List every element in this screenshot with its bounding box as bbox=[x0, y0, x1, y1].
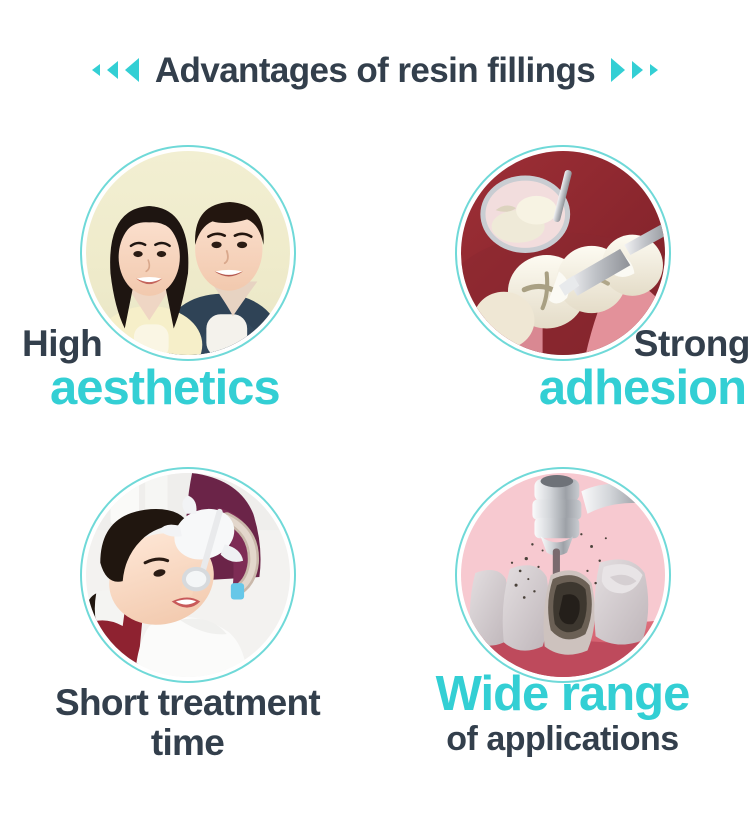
right-triangle-small-icon bbox=[650, 64, 658, 76]
dental-chair-patient-photo bbox=[86, 473, 290, 677]
photo-ring-high-aesthetics bbox=[80, 145, 296, 361]
advantage-card-wide-range-of-applications[interactable]: Wide range of applications bbox=[375, 452, 750, 774]
dental-drill-illustration bbox=[461, 473, 665, 677]
photo-ring-strong-adhesion bbox=[455, 145, 671, 361]
right-triangle-medium-icon bbox=[632, 61, 643, 79]
advantages-grid: High aesthetics bbox=[0, 130, 750, 774]
left-triangle-medium-icon bbox=[107, 61, 118, 79]
right-arrow-decoration bbox=[611, 58, 658, 82]
smiling-couple-illustration bbox=[86, 151, 290, 355]
left-arrow-decoration bbox=[92, 58, 139, 82]
drill-removing-decay-illustration bbox=[461, 473, 665, 677]
left-triangle-large-icon bbox=[125, 58, 139, 82]
photo-ring-wide-range bbox=[455, 467, 671, 683]
patient-in-dental-chair-illustration bbox=[86, 473, 290, 677]
right-triangle-large-icon bbox=[611, 58, 625, 82]
advantage-card-strong-adhesion[interactable]: Strong adhesion bbox=[375, 130, 750, 452]
caption-line-2: time bbox=[0, 724, 375, 761]
caption-short-treatment-time: Short treatment time bbox=[0, 684, 375, 761]
advantage-card-short-treatment-time[interactable]: Short treatment time bbox=[0, 452, 375, 774]
dental-filling-illustration bbox=[461, 151, 665, 355]
caption-line-2: aesthetics bbox=[50, 364, 397, 413]
advantages-row-1: High aesthetics bbox=[0, 130, 750, 452]
advantages-row-2: Short treatment time bbox=[0, 452, 750, 774]
photo-ring-short-treatment-time bbox=[80, 467, 296, 683]
left-triangle-small-icon bbox=[92, 64, 100, 76]
caption-line-2: adhesion bbox=[375, 364, 746, 413]
page-title: Advantages of resin fillings bbox=[155, 53, 595, 88]
molar-filling-illustration bbox=[461, 151, 665, 355]
smiling-couple-photo bbox=[86, 151, 290, 355]
advantage-card-high-aesthetics[interactable]: High aesthetics bbox=[0, 130, 375, 452]
caption-line-2: of applications bbox=[375, 722, 750, 756]
caption-line-1: Short treatment bbox=[0, 684, 375, 721]
page-header: Advantages of resin fillings bbox=[0, 44, 750, 96]
